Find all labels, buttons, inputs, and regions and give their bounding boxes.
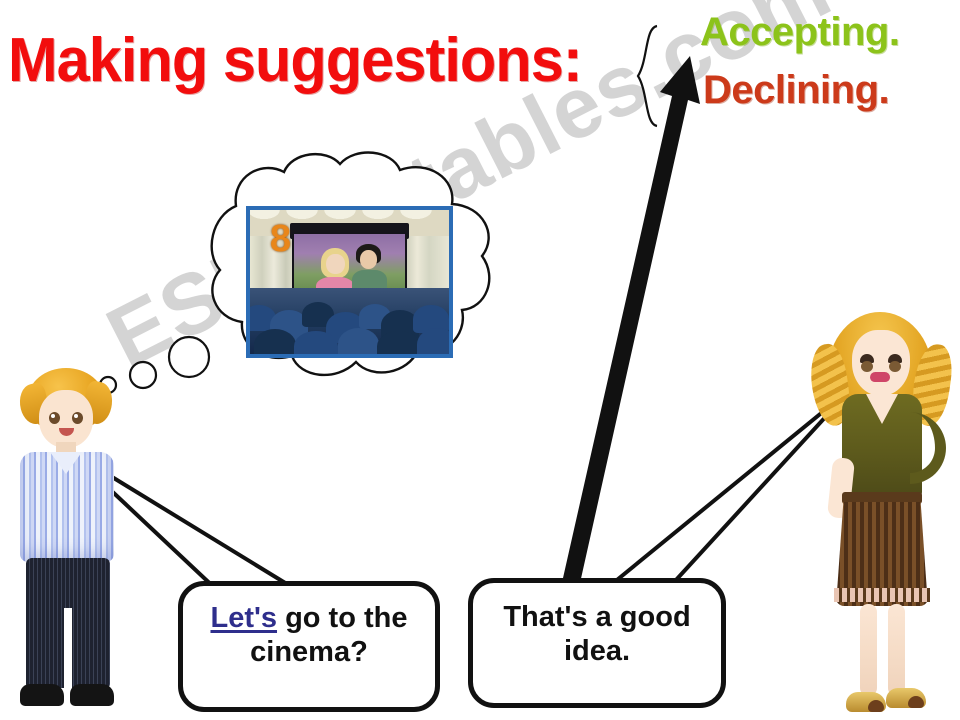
boy-shoe-left [20, 684, 64, 706]
boy-shoe-right [70, 684, 114, 706]
girl-lips [870, 372, 890, 382]
ornament-number: 8 [270, 219, 290, 263]
speech-bubble-suggestion-text: Let's go to the cinema? [183, 602, 435, 691]
boy-eye-right [72, 412, 83, 424]
girl-skirt-hem [834, 588, 930, 602]
cinema-picture: 8 [246, 206, 453, 358]
girl-leg-left [860, 604, 877, 696]
slide-canvas: ESLprintables.com Making suggestions: Ac… [0, 0, 960, 720]
boy-avatar [6, 368, 132, 720]
girl-eye-right [889, 361, 901, 372]
girl-sandal-left [846, 692, 886, 712]
lets-emphasis: Let's [210, 602, 277, 634]
girl-face [852, 330, 910, 396]
girl-leg-right [888, 604, 905, 696]
speech-bubble-suggestion[interactable]: Let's go to the cinema? [178, 581, 440, 712]
boy-face [39, 390, 93, 448]
speech-bubble-acceptance[interactable]: That's a good idea. [468, 578, 726, 708]
girl-arm-right [910, 412, 946, 484]
boy-eye-left [49, 412, 60, 424]
big-arrow-icon [563, 56, 700, 583]
cinema-audience [250, 288, 449, 354]
girl-avatar [806, 308, 956, 720]
girl-eye-left [861, 361, 873, 372]
boy-pants [26, 558, 110, 688]
speech-bubble-acceptance-text: That's a good idea. [473, 601, 721, 684]
curly-brace-icon [638, 26, 657, 126]
girl-sandal-right [886, 688, 926, 708]
